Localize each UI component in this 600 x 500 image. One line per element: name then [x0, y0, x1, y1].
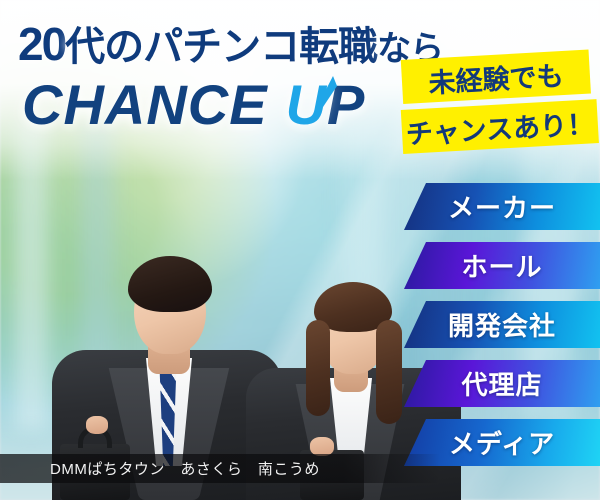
logo-letter-u: U	[286, 73, 327, 136]
logo-letter-p: P	[327, 73, 365, 136]
category-list: メーカー ホール 開発会社 代理店 メディア	[404, 183, 600, 478]
banner-advertisement[interactable]: 20代のパチンコ転職なら CHANCEUP 未経験でも チャンスあり！ メーカー…	[0, 0, 600, 500]
headline-number: 20	[18, 18, 65, 70]
caption-text: DMMぱちタウン あさくら 南こうめ	[50, 458, 320, 479]
category-button-hall[interactable]: ホール	[404, 242, 600, 289]
badge-line-1: 未経験でも	[401, 50, 591, 104]
page-title: 20代のパチンコ転職なら	[18, 14, 443, 72]
female-hair-ponytail	[376, 320, 402, 424]
category-button-maker[interactable]: メーカー	[404, 183, 600, 230]
caption-bar: DMMぱちタウン あさくら 南こうめ	[0, 454, 440, 483]
badge-line-2: チャンスあり！	[401, 99, 599, 154]
category-button-developer[interactable]: 開発会社	[404, 301, 600, 348]
chance-up-logo: CHANCEUP	[22, 72, 365, 137]
female-hair-side-left	[306, 320, 330, 416]
status-badge: 未経験でも チャンスあり！	[402, 60, 598, 154]
logo-chance: CHANCE	[22, 73, 268, 136]
category-button-agency[interactable]: 代理店	[404, 360, 600, 407]
male-hand	[86, 416, 108, 434]
male-hair	[128, 256, 212, 312]
headline-middle: 代のパチンコ転職	[65, 25, 377, 69]
